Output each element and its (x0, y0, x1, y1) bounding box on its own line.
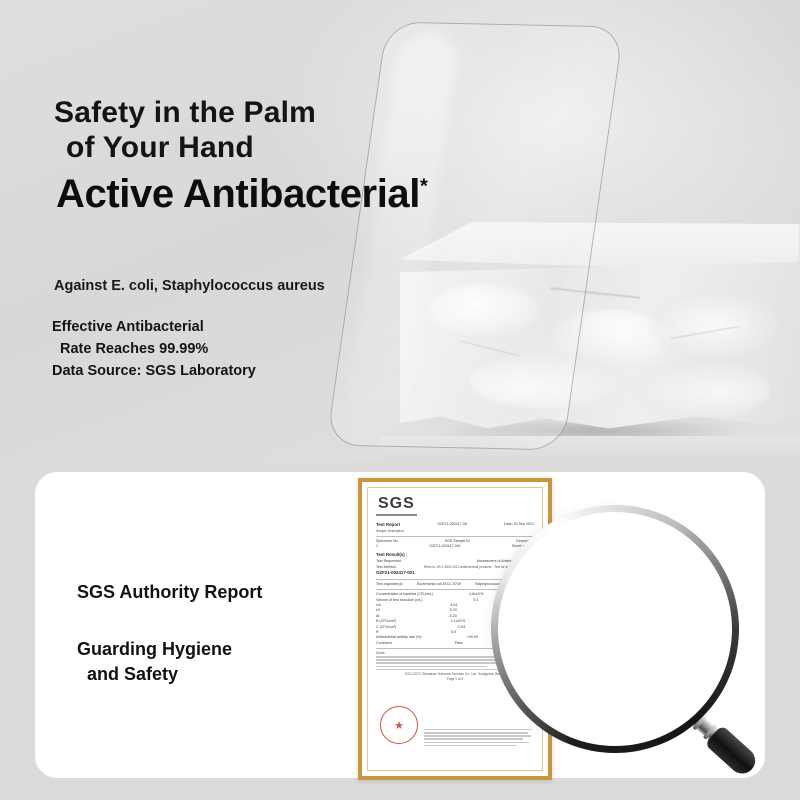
specimen-no-value: 1 (376, 544, 378, 549)
magnified-row: -0.20-0.20 (506, 580, 710, 601)
table-cell: C (CFU/cm²) (376, 625, 396, 630)
footnote-line-1: lm without antimicrobial activity, provi… (508, 702, 714, 714)
specimen-no-label: Specimen No. (376, 539, 399, 544)
magnified-cell: 2.1x10^5 (524, 601, 588, 622)
table-cell: 0.4 (473, 598, 478, 603)
sgs-logo: SGS (376, 495, 417, 516)
magnified-cell: -0.20 (628, 580, 692, 601)
sgs-sample-id-value: GZF21-002417-001 (429, 544, 461, 549)
document-report-title: Test Report (376, 522, 400, 529)
magnified-cell: 0.63 (628, 622, 692, 643)
table-cell: 0.63 (458, 625, 465, 630)
hero-title-line1: Safety in the Palm (54, 96, 316, 129)
hero-title-line2: of Your Hand (54, 131, 474, 166)
magnified-cell: 3.83 (628, 538, 692, 559)
highlight-value-1: >99.99 (518, 517, 582, 534)
hero-headline: Active Antibacterial* (56, 172, 427, 217)
card-heading: SGS Authority Report (77, 582, 262, 603)
magnified-row: 5.55.8 (506, 642, 710, 663)
magnified-content: 4.043.835.335.59-0.20-0.202.1x10^53.9x10… (498, 512, 718, 732)
table-cell: Pass (455, 641, 463, 646)
hero-subtitle: Against E. coli, Staphylococcus aureus (54, 278, 325, 294)
magnified-cell: 5.5 (524, 642, 588, 663)
magnifier-lens: 4.043.835.335.59-0.20-0.202.1x10^53.9x10… (498, 512, 718, 732)
magnified-cell: 0.63 (524, 622, 588, 643)
magnified-footnotes: lm without antimicrobial activity, provi… (508, 702, 714, 732)
hero-text-block: Safety in the Palm of Your Hand Active A… (0, 0, 800, 462)
magnified-divider (504, 694, 712, 696)
magnified-row: 5.335.59 (506, 559, 710, 580)
hero-stats: Effective Antibacterial Rate Reaches 99.… (52, 317, 256, 382)
footnote-line-3: m²). (508, 726, 714, 732)
magnified-row: 2.1x10^53.9x10^5 (506, 601, 710, 622)
highlight-value-2: >99.99 (634, 517, 698, 534)
magnified-results-rows: 4.043.835.335.59-0.20-0.202.1x10^53.9x10… (506, 538, 710, 663)
table-cell: >99.99 (467, 635, 478, 640)
table-cell: Comment (376, 641, 392, 646)
product-marketing-image: Safety in the Palm of Your Hand Active A… (0, 0, 800, 800)
magnified-cell: 3.9x10^5 (628, 601, 692, 622)
card-tagline-line2: and Safety (77, 662, 262, 687)
footnote-line-2: logarithm of the number of viable bacter… (508, 714, 714, 726)
magnified-cell: 5.33 (524, 559, 588, 580)
magnified-cell: 5.59 (628, 559, 692, 580)
card-tagline: Guarding Hygiene and Safety (77, 637, 262, 687)
magnified-cell: 4.04 (524, 538, 588, 559)
hero-stat-line2: Rate Reaches 99.99% (52, 339, 256, 361)
table-cell: Volume of test inoculum (mL) (376, 598, 423, 603)
magnified-cell: 5.8 (628, 642, 692, 663)
table-header-org1: Escherichia coli ATCC 8739 (417, 582, 461, 587)
hero-title: Safety in the Palm of Your Hand (54, 96, 474, 166)
table-header-organism: Test organism(s) (376, 582, 403, 587)
document-report-no: GZF21-002417-08 (437, 522, 467, 529)
asterisk-icon: * (420, 176, 427, 198)
antibacterial-rate-highlight: >99.99 >99.99 (510, 515, 706, 536)
table-cell: 5.5 (451, 630, 456, 635)
card-text-block: SGS Authority Report Guarding Hygiene an… (77, 582, 262, 687)
hero-headline-text: Active Antibacterial (56, 172, 420, 216)
red-seal-stamp-icon: ★ (380, 706, 418, 744)
magnified-row: 0.630.63 (506, 622, 710, 643)
magnified-cell: -0.20 (524, 580, 588, 601)
hero-stat-line3: Data Source: SGS Laboratory (52, 363, 256, 379)
magnified-row: 4.043.83 (506, 538, 710, 559)
hero-section: Safety in the Palm of Your Hand Active A… (0, 0, 800, 462)
magnifying-glass: 4.043.835.335.59-0.20-0.202.1x10^53.9x10… (498, 512, 718, 732)
hero-stat-line1: Effective Antibacterial (52, 319, 204, 335)
card-tagline-line1: Guarding Hygiene (77, 639, 232, 659)
